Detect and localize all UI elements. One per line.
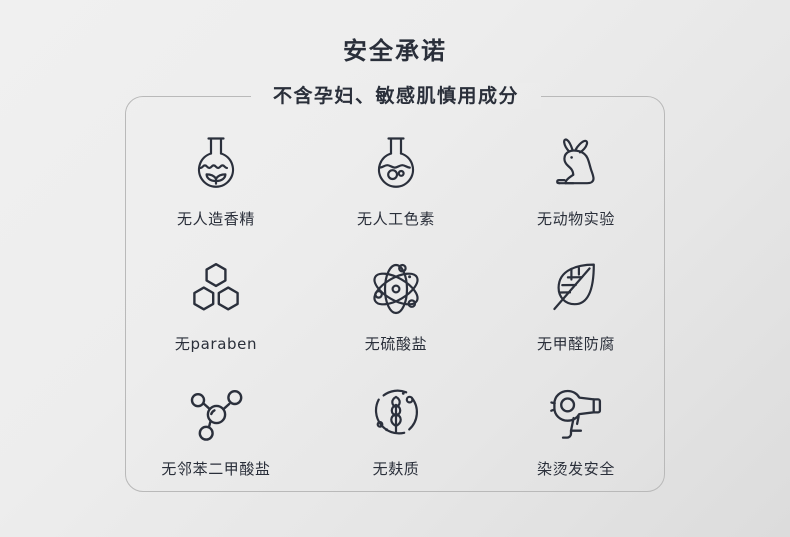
promise-item-color-perm-safe[interactable]: 染烫发安全 (486, 368, 666, 493)
rabbit-icon (545, 133, 607, 195)
promise-item-label: 无邻苯二甲酸盐 (161, 459, 270, 479)
hexagons-icon (185, 258, 247, 320)
promise-item-no-artificial-color[interactable]: 无人工色素 (306, 119, 486, 244)
wheat-in-circle-icon (365, 383, 427, 445)
leaf-icon (545, 258, 607, 320)
subtitle-wrap: 不含孕妇、敏感肌慎用成分 (126, 83, 666, 109)
promise-item-no-formaldehyde[interactable]: 无甲醛防腐 (486, 244, 666, 369)
atom-icon (365, 258, 427, 320)
safety-promise-page: 安全承诺 不含孕妇、敏感肌慎用成分 (0, 0, 790, 537)
promise-item-label: 染烫发安全 (537, 459, 615, 479)
promise-item-label: 无甲醛防腐 (537, 334, 615, 354)
molecule-icon (185, 383, 247, 445)
promise-item-no-animal-testing[interactable]: 无动物实验 (486, 119, 666, 244)
promise-item-label: 无硫酸盐 (365, 334, 427, 354)
promise-item-label: 无人造香精 (177, 209, 255, 229)
promise-item-label: 无人工色素 (357, 209, 435, 229)
page-subtitle: 不含孕妇、敏感肌慎用成分 (251, 83, 541, 109)
promise-item-no-artificial-fragrance[interactable]: 无人造香精 (126, 119, 306, 244)
flask-with-leaves-icon (186, 133, 246, 195)
page-title: 安全承诺 (0, 36, 790, 66)
promise-item-label: 无麸质 (373, 459, 420, 479)
promise-item-label: 无动物实验 (537, 209, 615, 229)
promise-card: 不含孕妇、敏感肌慎用成分 无人造香精 (125, 96, 665, 492)
promise-item-no-phthalate[interactable]: 无邻苯二甲酸盐 (126, 368, 306, 493)
hair-dryer-icon (545, 383, 607, 445)
promise-item-label: 无paraben (175, 334, 257, 354)
promise-item-no-sulfate[interactable]: 无硫酸盐 (306, 244, 486, 369)
promise-item-gluten-free[interactable]: 无麸质 (306, 368, 486, 493)
promise-grid: 无人造香精 无人工色素 (126, 119, 666, 493)
flask-with-bubbles-icon (366, 133, 426, 195)
heading-block: 安全承诺 (0, 36, 790, 66)
promise-item-no-paraben[interactable]: 无paraben (126, 244, 306, 369)
